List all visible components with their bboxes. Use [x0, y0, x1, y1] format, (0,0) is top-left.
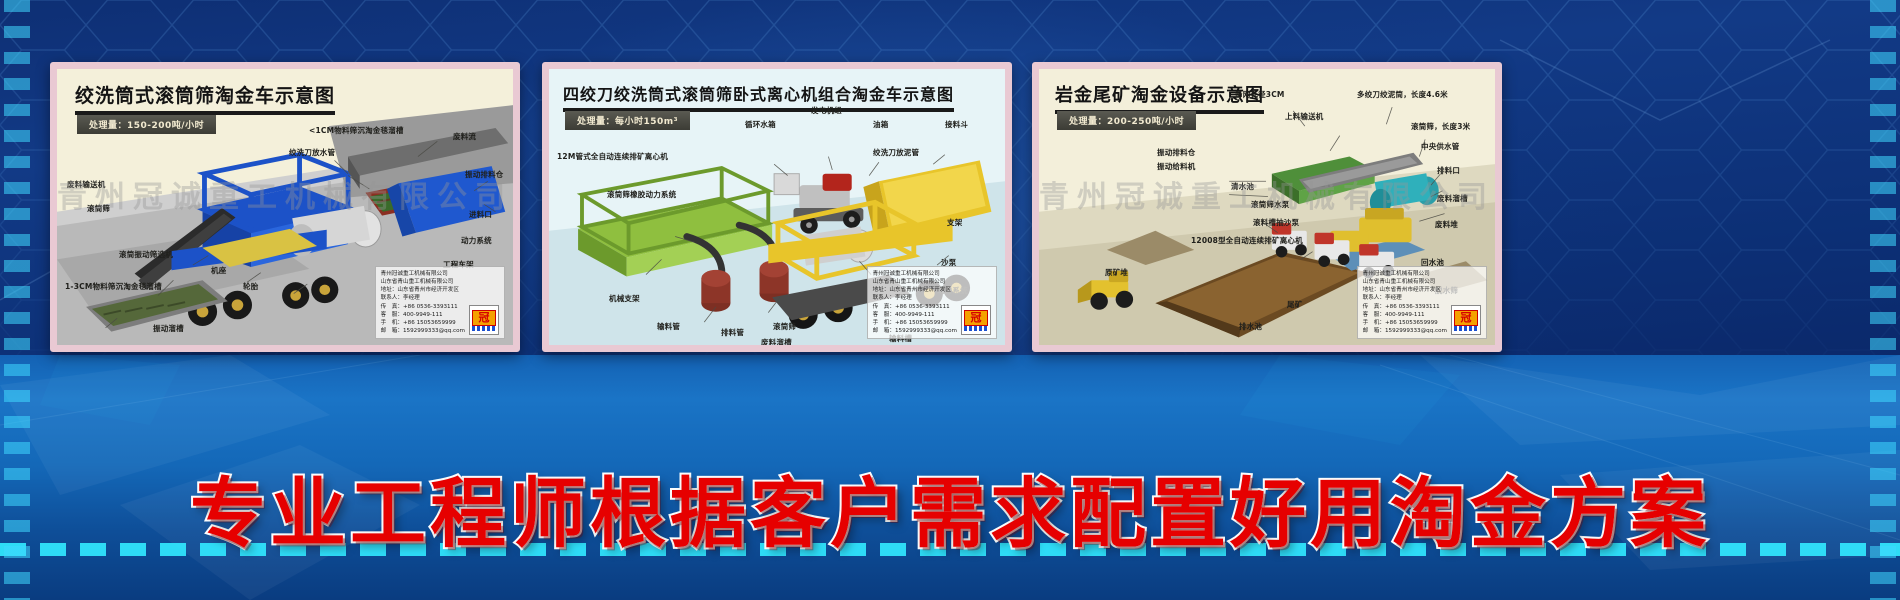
company-logo: 冠: [961, 305, 991, 335]
panel-2-capacity-badge: 处理量：每小时150m³: [565, 111, 690, 130]
panel-3-callout-8: 清水池: [1231, 181, 1254, 192]
panel-1-callout-1: 废料流: [453, 131, 476, 142]
diagram-panel-3[interactable]: 岩金尾矿淘金设备示意图 处理量：200-250吨/小时 筛网孔径3CM 多绞刀绞…: [1032, 62, 1502, 352]
panel-2-callout-7: 支架: [947, 217, 962, 228]
panel-2-callout-5: 12M管式全自动连续排矿离心机: [557, 151, 668, 162]
contact-mobile: 手 机：+86 15053659999: [1363, 319, 1447, 327]
company-logo: 冠: [1451, 305, 1481, 335]
contact-email: 邮 箱：1592999333@qq.com: [873, 327, 957, 335]
panel-1-callout-4: 绞洗刀放水管: [289, 147, 335, 158]
contact-fax: 传 真：+86 0536-3393111: [873, 303, 957, 311]
diagram-panel-2[interactable]: 四绞刀绞洗筒式滚筒筛卧式离心机组合淘金车示意图 处理量：每小时150m³ 循环水…: [542, 62, 1012, 352]
contact-company-alt: 山东省青山重工机械有限公司: [381, 278, 465, 286]
logo-bars-icon: [472, 326, 496, 331]
contact-address: 地址：山东省青州市经济开发区: [873, 286, 957, 294]
contact-service: 客 服：400-9949-111: [873, 311, 957, 319]
diagram-panel-1[interactable]: 绞洗筒式滚筒筛淘金车示意图 处理量：150-200吨/小时 <1CM物料筛沉淘金…: [50, 62, 520, 352]
panel-3-callout-9: 滚筒筛水泵: [1251, 199, 1290, 210]
logo-mark-icon: 冠: [964, 310, 988, 326]
panel-3-callout-2: 上料输送机: [1285, 111, 1324, 122]
panel-2-callout-12: 排料管: [721, 327, 744, 338]
panel-2-callout-6: 滚筒筛橡胶动力系统: [607, 189, 676, 200]
logo-bars-icon: [964, 326, 988, 331]
panel-2-callout-3: 接料斗: [945, 119, 968, 130]
panel-3-capacity-badge: 处理量：200-250吨/小时: [1057, 111, 1196, 130]
panel-3-title: 岩金尾矿淘金设备示意图: [1055, 81, 1264, 114]
panel-3-callout-1: 多绞刀绞泥筒，长度4.6米: [1357, 89, 1448, 100]
panel-3-callout-11: 滚料槽抽沙泵: [1253, 217, 1299, 228]
panel-1-callout-7: 机座: [211, 265, 226, 276]
panel-3-callout-12: 废料堆: [1435, 219, 1458, 230]
panel-2-callout-10: 机械支架: [609, 293, 640, 304]
company-logo: 冠: [469, 305, 499, 335]
panel-1-callout-6: 滚筒振动筛选机: [119, 249, 173, 260]
panel-1-contact-card: 青州冠诚重工机械有限公司 山东省青山重工机械有限公司 地址：山东省青州市经济开发…: [375, 266, 505, 339]
panel-1-callout-8: 轮胎: [243, 281, 258, 292]
panel-3-callout-4: 中央供水管: [1421, 141, 1460, 152]
panel-1-callout-9: 进料口: [469, 209, 492, 220]
contact-email: 邮 箱：1592999333@qq.com: [381, 327, 465, 335]
panel-3-callout-5: 振动排料仓: [1157, 147, 1196, 158]
panel-1-callout-2: 振动排料仓: [465, 169, 504, 180]
contact-company-alt: 山东省青山重工机械有限公司: [1363, 278, 1447, 286]
contact-address: 地址：山东省青州市经济开发区: [381, 286, 465, 294]
contact-service: 客 服：400-9949-111: [381, 311, 465, 319]
contact-company: 青州冠诚重工机械有限公司: [381, 270, 465, 278]
headline-text: 专业工程师根据客户需求配置好用淘金方案: [190, 452, 1710, 562]
panel-2-callout-1: 发电机组: [811, 105, 842, 116]
panel-2-contact-card: 青州冠诚重工机械有限公司 山东省青山重工机械有限公司 地址：山东省青州市经济开发…: [867, 266, 997, 339]
panel-1-callout-0: <1CM物料筛沉淘金毯溜槽: [309, 125, 404, 136]
panel-2-callout-13: 滚筒筛: [773, 321, 796, 332]
panel-2-callout-4: 绞洗刀放泥管: [873, 147, 919, 158]
panel-1-callout-13: 振动溜槽: [153, 323, 184, 334]
logo-mark-icon: 冠: [472, 310, 496, 326]
contact-person: 联系人：李经理: [381, 294, 465, 302]
panel-3-callout-7: 排料口: [1437, 165, 1460, 176]
panel-3-callout-3: 滚筒筛，长度3米: [1411, 121, 1470, 132]
panel-3-callout-14: 尾矿: [1287, 299, 1302, 310]
contact-mobile: 手 机：+86 15053659999: [873, 319, 957, 327]
contact-company-alt: 山东省青山重工机械有限公司: [873, 278, 957, 286]
contact-mobile: 手 机：+86 15053659999: [381, 319, 465, 327]
contact-company: 青州冠诚重工机械有限公司: [873, 270, 957, 278]
panel-3-callout-17: 排水池: [1239, 321, 1262, 332]
contact-fax: 传 真：+86 0536-3393111: [381, 303, 465, 311]
panel-2-callout-0: 循环水箱: [745, 119, 776, 130]
contact-address: 地址：山东省青州市经济开发区: [1363, 286, 1447, 294]
headline-banner: 专业工程师根据客户需求配置好用淘金方案: [0, 452, 1900, 562]
contact-company: 青州冠诚重工机械有限公司: [1363, 270, 1447, 278]
panel-3-callout-0: 筛网孔径3CM: [1235, 89, 1285, 100]
contact-person: 联系人：李经理: [873, 294, 957, 302]
panel-3-callout-6: 振动给料机: [1157, 161, 1196, 172]
contact-person: 联系人：李经理: [1363, 294, 1447, 302]
panel-1-callout-5: 滚筒筛: [87, 203, 110, 214]
panel-1-callout-10: 动力系统: [461, 235, 492, 246]
panel-3-callout-18: 原矿堆: [1105, 267, 1128, 278]
panel-1-callout-12: 1-3CM物料筛沉淘金毯溜槽: [65, 281, 162, 292]
panel-1-title: 绞洗筒式滚筒筛淘金车示意图: [75, 81, 335, 115]
panel-3-callout-13: 12008型全自动连续排矿离心机: [1191, 235, 1303, 246]
logo-mark-icon: 冠: [1454, 310, 1478, 326]
panel-2-callout-2: 油箱: [873, 119, 888, 130]
panel-2-callout-14: 废料溜槽: [761, 337, 792, 348]
contact-service: 客 服：400-9949-111: [1363, 311, 1447, 319]
panel-3-callout-10: 废料溜槽: [1437, 193, 1468, 204]
panel-1-capacity-badge: 处理量：150-200吨/小时: [77, 115, 216, 134]
panel-2-title: 四绞刀绞洗筒式滚筒筛卧式离心机组合淘金车示意图: [563, 81, 954, 112]
contact-fax: 传 真：+86 0536-3393111: [1363, 303, 1447, 311]
logo-bars-icon: [1454, 326, 1478, 331]
panel-1-callout-3: 废料输送机: [67, 179, 106, 190]
panel-2-callout-11: 输料管: [657, 321, 680, 332]
panel-3-contact-card: 青州冠诚重工机械有限公司 山东省青山重工机械有限公司 地址：山东省青州市经济开发…: [1357, 266, 1487, 339]
contact-email: 邮 箱：1592999333@qq.com: [1363, 327, 1447, 335]
